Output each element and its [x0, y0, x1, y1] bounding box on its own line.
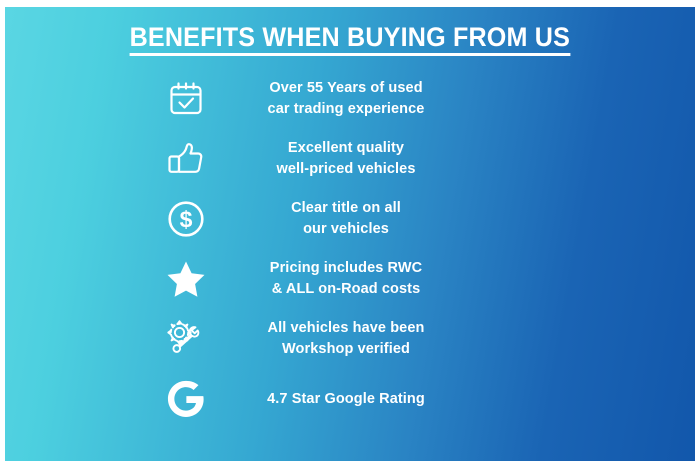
- benefit-text-pricing: Pricing includes RWC & ALL on-Road costs: [217, 258, 467, 300]
- thumbs-up-icon: [155, 133, 217, 185]
- benefit-row-clear-title: $ Clear title on all our vehicles: [5, 189, 695, 249]
- benefit-row-quality: Excellent quality well-priced vehicles: [5, 129, 695, 189]
- benefit-row-google-rating: 4.7 Star Google Rating: [5, 369, 695, 429]
- benefit-row-experience: Over 55 Years of used car trading experi…: [5, 69, 695, 129]
- benefit-line-1: Excellent quality: [225, 138, 467, 159]
- benefits-list: Over 55 Years of used car trading experi…: [5, 69, 695, 429]
- title-container: BENEFITS WHEN BUYING FROM US: [5, 7, 695, 56]
- benefit-line-2: & ALL on-Road costs: [225, 279, 467, 300]
- benefit-text-quality: Excellent quality well-priced vehicles: [217, 138, 467, 180]
- benefits-banner: BENEFITS WHEN BUYING FROM US Over 55 Yea…: [0, 0, 700, 467]
- benefit-line-1: 4.7 Star Google Rating: [225, 389, 467, 410]
- calendar-check-icon: [155, 73, 217, 125]
- benefit-text-experience: Over 55 Years of used car trading experi…: [217, 78, 467, 120]
- star-icon: [155, 253, 217, 305]
- gear-wrench-icon: [155, 313, 217, 365]
- page-title: BENEFITS WHEN BUYING FROM US: [130, 23, 570, 56]
- benefit-line-2: Workshop verified: [225, 339, 467, 360]
- benefit-line-1: Pricing includes RWC: [225, 258, 467, 279]
- benefit-row-workshop: All vehicles have been Workshop verified: [5, 309, 695, 369]
- benefit-row-pricing: Pricing includes RWC & ALL on-Road costs: [5, 249, 695, 309]
- benefit-line-1: All vehicles have been: [225, 318, 467, 339]
- google-g-icon: [155, 373, 217, 425]
- benefit-text-clear-title: Clear title on all our vehicles: [217, 198, 467, 240]
- svg-text:$: $: [180, 207, 193, 233]
- dollar-circle-icon: $: [155, 193, 217, 245]
- benefit-line-2: our vehicles: [225, 219, 467, 240]
- benefit-line-2: well-priced vehicles: [225, 159, 467, 180]
- benefit-text-workshop: All vehicles have been Workshop verified: [217, 318, 467, 360]
- benefit-line-1: Clear title on all: [225, 198, 467, 219]
- benefit-line-2: car trading experience: [225, 99, 467, 120]
- benefit-line-1: Over 55 Years of used: [225, 78, 467, 99]
- benefit-text-google-rating: 4.7 Star Google Rating: [217, 389, 467, 410]
- gradient-background: BENEFITS WHEN BUYING FROM US Over 55 Yea…: [5, 7, 695, 461]
